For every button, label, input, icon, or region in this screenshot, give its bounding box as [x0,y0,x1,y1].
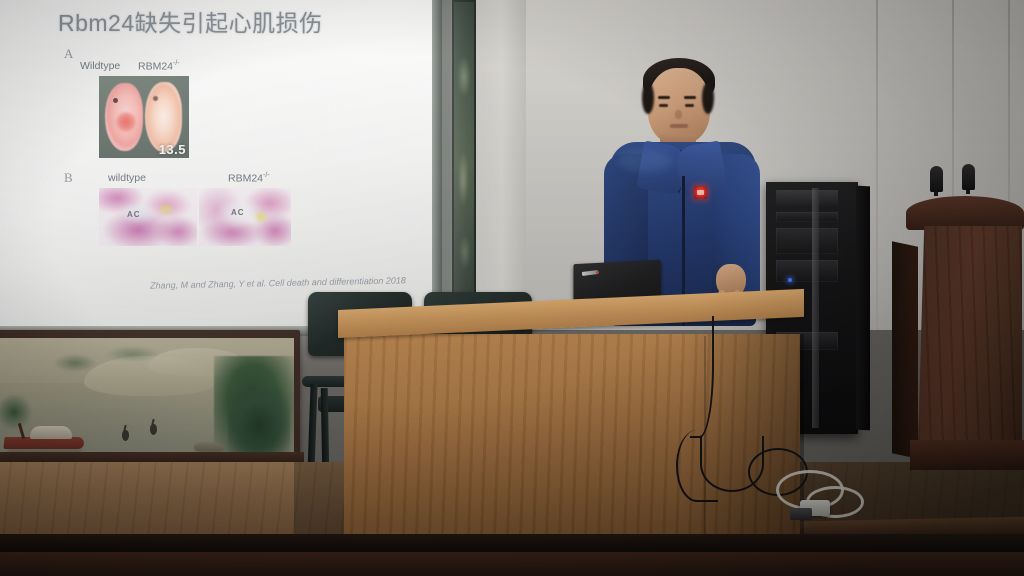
panel-b-label-wildtype: wildtype [108,172,146,184]
panel-b-label-knockout: RBM24-/- [228,172,270,185]
mural-bush-mid [54,354,96,372]
chinese-landscape-mural [0,338,294,464]
lecture-hall-photo: Rbm24缺失引起心肌损伤 A Wildtype RBM24-/- 13.5 B… [0,0,1024,576]
podium-desk [338,310,804,536]
histology-wildtype: AC [99,188,197,246]
microphone-2[interactable] [962,164,975,190]
lectern-body [918,226,1022,444]
presenter-hair-left [642,82,654,114]
rack-vertical-rail [812,188,819,428]
presenter-badge-inner [697,190,704,195]
thinkpad-logo-dot-icon [596,271,599,274]
presenter-nose [675,110,682,119]
embryo-stage-label: 13.5 [159,142,186,157]
histology-knockout: AC [199,188,291,246]
microphone-1[interactable] [930,166,943,192]
embryo-wildtype-eye [113,98,118,103]
presenter-head [648,68,710,144]
mural-bird-1 [122,430,129,441]
mural-bird-2 [150,424,157,435]
mural-boat [4,424,90,450]
mural-boat-canopy [30,426,72,439]
projection-screen: Rbm24缺失引起心肌损伤 A Wildtype RBM24-/- 13.5 B… [0,0,438,332]
mural-bush-far [106,346,160,362]
wooden-lectern [906,196,1024,486]
wall-seam-1 [876,0,878,330]
presentation-slide: Rbm24缺失引起心肌损伤 A Wildtype RBM24-/- 13.5 B… [0,0,438,332]
lectern-grain [918,226,1022,444]
lectern-top [906,196,1024,230]
power-adapter-brick [790,508,812,520]
presenter-brow-left [658,96,670,99]
screen-right-edge [432,0,442,332]
slide-citation: Zhang, M and Zhang, Y et al. Cell death … [150,275,406,290]
presenter-brow-right [684,96,696,99]
stage-edge [0,534,1024,554]
embryo-knockout-eye [153,96,158,101]
rack-status-led [788,278,792,282]
stage-front-panel [0,552,1024,576]
panel-b-letter: B [64,170,73,186]
presenter-hair-right [702,82,714,114]
presenter-eye-right [685,104,694,107]
lectern-base [910,440,1024,470]
mural-rock [194,442,224,452]
panel-a-label-knockout: RBM24-/- [138,60,180,73]
embryo-wildtype-heart-region [116,112,136,132]
histology-ko-annotation: AC [231,208,245,217]
rack-slot-2 [776,228,838,254]
mural-tree-right-lower [228,388,290,462]
presenter-eye-left [659,104,668,107]
panel-a-letter: A [64,46,73,62]
histology-wt-annotation: AC [127,210,141,219]
rack-unit-1 [776,190,838,206]
rack-slot-1 [776,212,838,222]
lectern-side-shadow [892,241,918,459]
slide-title: Rbm24缺失引起心肌损伤 [58,4,323,38]
rack-slot-3 [776,260,838,282]
presenter-shoulder-highlight [618,150,672,172]
vertical-mural-strip [452,0,476,300]
presenter-mouth [670,124,688,128]
embryo-photo-panel-a: 13.5 [99,76,189,158]
rack-side-panel [856,186,870,431]
panel-a-label-wildtype: Wildtype [80,60,120,72]
